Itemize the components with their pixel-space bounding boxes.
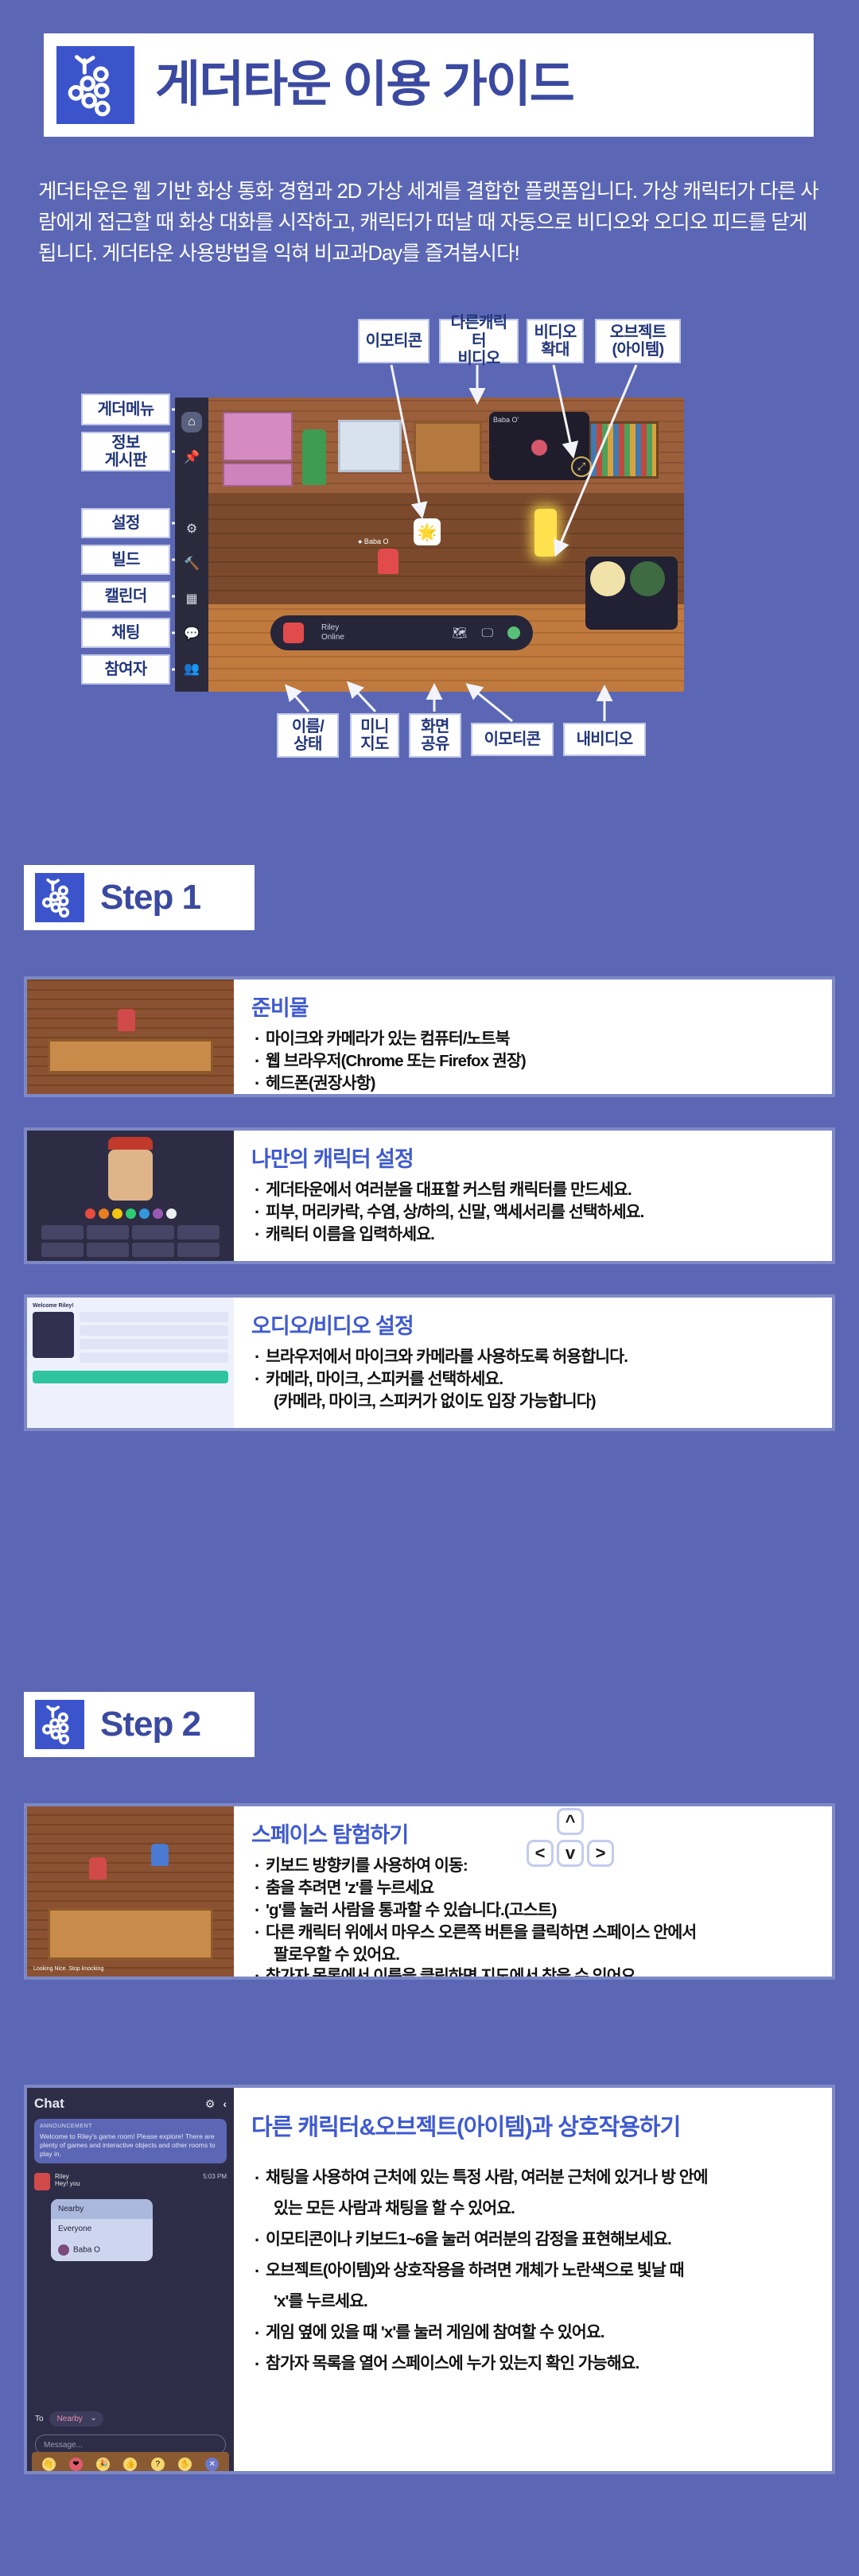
callout-emoticon: 이모티콘 bbox=[358, 319, 429, 363]
card-title: 나만의 캐릭터 설정 bbox=[251, 1142, 824, 1173]
callout-info-board: 정보 게시판 bbox=[81, 432, 170, 471]
message-sender: Riley bbox=[55, 2173, 80, 2180]
video-tile-name: Baba O' bbox=[493, 416, 519, 424]
people-icon[interactable]: 👥 bbox=[181, 658, 202, 679]
page-header: 게더타운 이용 가이드 bbox=[44, 33, 814, 137]
card-preparation: 준비물 마이크와 카메라가 있는 컴퓨터/노트북 웹 브라우저(Chrome 또… bbox=[24, 976, 835, 1097]
dropdown-option-user[interactable]: Baba O bbox=[51, 2239, 153, 2261]
callout-name-status: 이름/ 상태 bbox=[277, 713, 339, 758]
gear-icon[interactable]: ⚙ bbox=[181, 518, 202, 539]
card-bullets: 채팅을 사용하여 근처에 있는 특정 사람, 여러분 근처에 있거나 방 안에 … bbox=[251, 2163, 824, 2380]
emoji-icon[interactable] bbox=[507, 627, 520, 639]
furniture-counter bbox=[223, 463, 293, 487]
chevron-left-icon[interactable]: ‹ bbox=[223, 2097, 227, 2111]
intro-paragraph: 게더타운은 웹 기반 화상 통화 경험과 2D 가상 세계를 결합한 플랫폼입니… bbox=[38, 177, 826, 269]
step2-label: Step 2 bbox=[100, 1705, 200, 1744]
emoji-bubble-icon: 🌟 bbox=[414, 518, 441, 545]
emoji-wave-icon[interactable]: 👋 bbox=[42, 2458, 56, 2471]
gear-icon[interactable]: ⚙ bbox=[205, 2097, 216, 2111]
furniture-whiteboard bbox=[338, 420, 402, 472]
dropdown-option-everyone[interactable]: Everyone bbox=[51, 2219, 153, 2239]
furniture-cabinet bbox=[223, 412, 293, 461]
furniture-corkboard bbox=[414, 421, 482, 474]
avatar bbox=[34, 2173, 50, 2190]
callout-my-video: 내비디오 bbox=[563, 723, 646, 756]
chat-message: Riley Hey! you 5:03 PM bbox=[34, 2173, 227, 2190]
card-bullets: 마이크와 카메라가 있는 컴퓨터/노트북 웹 브라우저(Chrome 또는 Fi… bbox=[251, 1028, 824, 1095]
message-time: 5:03 PM bbox=[203, 2173, 227, 2190]
list-item: 브라우저에서 마이크와 카메라를 사용하도록 허용합니다. bbox=[251, 1346, 824, 1368]
step1-banner: Step 1 bbox=[24, 865, 255, 930]
chevron-down-icon: ⌄ bbox=[90, 2414, 96, 2423]
card-thumbnail bbox=[27, 980, 234, 1094]
callout-other-character-video: 다른캐릭터 비디오 bbox=[439, 319, 519, 363]
home-icon[interactable]: ⌂ bbox=[181, 412, 202, 433]
minimap-icon[interactable]: 🗺 bbox=[452, 626, 467, 640]
card-thumbnail: Welcome Riley! bbox=[27, 1298, 234, 1428]
emoji-bar: 👋 ❤ 🎉 👍 ? ✋ ✕ bbox=[32, 2452, 229, 2471]
card-title: 오디오/비디오 설정 bbox=[251, 1309, 824, 1340]
chat-title: Chat bbox=[34, 2096, 64, 2112]
emoji-party-icon[interactable]: 🎉 bbox=[96, 2458, 110, 2471]
list-item: 참가자 목록에서 이름을 클릭하면 지도에서 찾을 수 있어요. bbox=[251, 1965, 824, 1980]
avatar bbox=[58, 2244, 69, 2256]
card-bullets: 브라우저에서 마이크와 카메라를 사용하도록 허용합니다. 카메라, 마이크, … bbox=[251, 1346, 824, 1413]
callout-build: 빌드 bbox=[81, 545, 170, 575]
page-title: 게더타운 이용 가이드 bbox=[155, 60, 573, 110]
recipient-row: To Nearby⌄ bbox=[35, 2411, 103, 2427]
gather-left-sidebar: ⌂ 📌 ⚙ 🔨 ▦ 💬 👥 bbox=[175, 398, 208, 692]
list-item: 게임 옆에 있을 때 'x'를 눌러 게임에 참여할 수 있어요. bbox=[251, 2318, 824, 2349]
list-item: 'x'를 누르세요. bbox=[251, 2287, 824, 2318]
gather-grape-logo-icon bbox=[56, 46, 134, 124]
furniture-bookshelf bbox=[589, 421, 659, 479]
list-item: 있는 모든 사람과 채팅을 할 수 있어요. bbox=[251, 2194, 824, 2225]
video-expand-icon[interactable]: ⤢ bbox=[571, 456, 592, 477]
pin-icon[interactable]: 📌 bbox=[181, 447, 202, 467]
player-name-label: ● Baba O bbox=[358, 537, 388, 545]
recipient-dropdown[interactable]: Nearby Everyone Baba O bbox=[51, 2199, 153, 2261]
emoji-heart-icon[interactable]: ❤ bbox=[69, 2458, 83, 2471]
interactive-object-item[interactable] bbox=[534, 509, 557, 557]
hammer-icon[interactable]: 🔨 bbox=[181, 553, 202, 574]
callout-settings: 설정 bbox=[81, 508, 170, 538]
card-thumbnail: Chat ⚙ ‹ ANNOUNCEMENT Welcome to Riley's… bbox=[27, 2088, 234, 2471]
to-select[interactable]: Nearby⌄ bbox=[49, 2411, 103, 2427]
card-bullets: 게더타운에서 여러분을 대표할 커스텀 캐릭터를 만드세요. 피부, 머리카락,… bbox=[251, 1179, 824, 1246]
announcement-text: Welcome to Riley's game room! Please exp… bbox=[40, 2132, 221, 2159]
list-item: 키보드 방향키를 사용하여 이동: bbox=[251, 1855, 824, 1877]
callout-object-item: 오브젝트 (아이템) bbox=[595, 319, 681, 363]
message-text: Hey! you bbox=[55, 2180, 80, 2187]
avatar[interactable] bbox=[283, 623, 304, 643]
step2-banner: Step 2 bbox=[24, 1692, 255, 1757]
list-item: 팔로우할 수 있어요. bbox=[251, 1944, 824, 1966]
name-status-block[interactable]: Riley Online bbox=[321, 623, 344, 643]
list-item: 피부, 머리카락, 수염, 상/하의, 신말, 액세서리를 선택하세요. bbox=[251, 1201, 824, 1224]
list-item: 춤을 추려면 'z'를 누르세요 bbox=[251, 1877, 824, 1899]
announcement-tag: ANNOUNCEMENT bbox=[40, 2124, 221, 2131]
player-avatar bbox=[378, 549, 398, 574]
emoji-thumbsup-icon[interactable]: 👍 bbox=[123, 2458, 137, 2471]
emoji-question-icon[interactable]: ? bbox=[151, 2458, 165, 2471]
card-title: 다른 캐릭터&오브젝트(아이템)과 상호작용하기 bbox=[251, 2109, 824, 2142]
announcement-message: ANNOUNCEMENT Welcome to Riley's game roo… bbox=[34, 2119, 227, 2163]
chat-icon[interactable]: 💬 bbox=[181, 623, 202, 644]
callout-video-expand: 비디오 확대 bbox=[527, 319, 584, 363]
user-name: Riley bbox=[321, 623, 344, 634]
gather-grape-logo-icon bbox=[35, 1700, 84, 1749]
arrow-up-icon[interactable]: ^ bbox=[557, 1808, 584, 1835]
list-item: 'g'를 눌러 사람을 통과할 수 있습니다.(고스트) bbox=[251, 1899, 824, 1922]
chat-panel-screenshot: Chat ⚙ ‹ ANNOUNCEMENT Welcome to Riley's… bbox=[27, 2088, 234, 2471]
card-bullets: 키보드 방향키를 사용하여 이동: 춤을 추려면 'z'를 누르세요 'g'를 … bbox=[251, 1855, 824, 1980]
gather-room-screenshot: Baba O' ⤢ 🌟 ● Baba O ⌂ 📌 ⚙ 🔨 ▦ 💬 👥 bbox=[175, 398, 684, 692]
list-item: 채팅을 사용하여 근처에 있는 특정 사람, 여러분 근처에 있거나 방 안에 bbox=[251, 2163, 824, 2194]
dropdown-option-nearby[interactable]: Nearby bbox=[51, 2199, 153, 2219]
list-item: 이모티콘이나 키보드1~6을 눌러 여러분의 감정을 표현해보세요. bbox=[251, 2225, 824, 2256]
list-item: 오브젝트(아이템)와 상호작용을 하려면 개체가 노란색으로 빛날 때 bbox=[251, 2256, 824, 2287]
list-item: 헤드폰(권장사항) bbox=[251, 1073, 824, 1095]
callout-calendar: 캘린더 bbox=[81, 581, 170, 611]
annotated-screenshot-diagram: Baba O' ⤢ 🌟 ● Baba O ⌂ 📌 ⚙ 🔨 ▦ 💬 👥 bbox=[80, 314, 779, 775]
callout-chat: 채팅 bbox=[81, 618, 170, 648]
list-item: 웹 브라우저(Chrome 또는 Firefox 권장) bbox=[251, 1050, 824, 1073]
card-thumbnail bbox=[27, 1131, 234, 1261]
callout-gather-menu: 게더메뉴 bbox=[81, 394, 170, 425]
close-icon[interactable]: ✕ bbox=[205, 2458, 219, 2471]
to-label: To bbox=[35, 2415, 44, 2423]
gather-bottom-bar: Riley Online 🗺 🖵 bbox=[270, 615, 533, 650]
list-item: 게더타운에서 여러분을 대표할 커스텀 캐릭터를 만드세요. bbox=[251, 1179, 824, 1201]
list-item: 다른 캐릭터 위에서 마우스 오른쪽 버튼을 클릭하면 스페이스 안에서 bbox=[251, 1922, 824, 1944]
emoji-raisehand-icon[interactable]: ✋ bbox=[178, 2458, 192, 2471]
callout-emoticon-bottom: 이모티콘 bbox=[471, 723, 554, 756]
my-video-tile bbox=[590, 561, 625, 596]
callout-screenshare: 화면 공유 bbox=[409, 713, 461, 758]
list-item: 마이크와 카메라가 있는 컴퓨터/노트북 bbox=[251, 1028, 824, 1050]
card-thumbnail: Looking Nice. Stop knocking bbox=[27, 1806, 234, 1977]
guide-page: 게더타운 이용 가이드 게더타운은 웹 기반 화상 통화 경험과 2D 가상 세… bbox=[0, 0, 859, 2576]
step1-label: Step 1 bbox=[100, 878, 200, 918]
calendar-icon[interactable]: ▦ bbox=[181, 588, 202, 609]
list-item: 캐릭터 이름을 입력하세요. bbox=[251, 1224, 824, 1246]
video-tile-avatar bbox=[531, 440, 547, 456]
card-audio-video-setup: Welcome Riley! 오디오/비디오 설정 브라우저에서 마이크와 카메… bbox=[24, 1294, 835, 1431]
furniture-plant bbox=[302, 429, 326, 485]
screenshare-icon[interactable]: 🖵 bbox=[482, 627, 493, 640]
list-item: 카메라, 마이크, 스피커를 선택하세요. bbox=[251, 1368, 824, 1391]
card-title: 준비물 bbox=[251, 991, 824, 1022]
my-video-panel[interactable] bbox=[585, 557, 678, 630]
callout-minimap: 미니 지도 bbox=[350, 713, 399, 758]
card-explore-space: Looking Nice. Stop knocking 스페이스 탐험하기 ^ … bbox=[24, 1803, 835, 1980]
card-character-setup: 나만의 캐릭터 설정 게더타운에서 여러분을 대표할 커스텀 캐릭터를 만드세요… bbox=[24, 1127, 835, 1264]
user-status: Online bbox=[321, 633, 344, 643]
list-item: (카메라, 마이크, 스피커가 없이도 입장 가능합니다) bbox=[251, 1391, 824, 1413]
peer-video-tile bbox=[630, 561, 665, 596]
list-item: 참가자 목록을 열어 스페이스에 누가 있는지 확인 가능해요. bbox=[251, 2349, 824, 2380]
card-interaction: Chat ⚙ ‹ ANNOUNCEMENT Welcome to Riley's… bbox=[24, 2085, 835, 2474]
callout-participants: 참여자 bbox=[81, 654, 170, 685]
gather-grape-logo-icon bbox=[35, 873, 84, 922]
